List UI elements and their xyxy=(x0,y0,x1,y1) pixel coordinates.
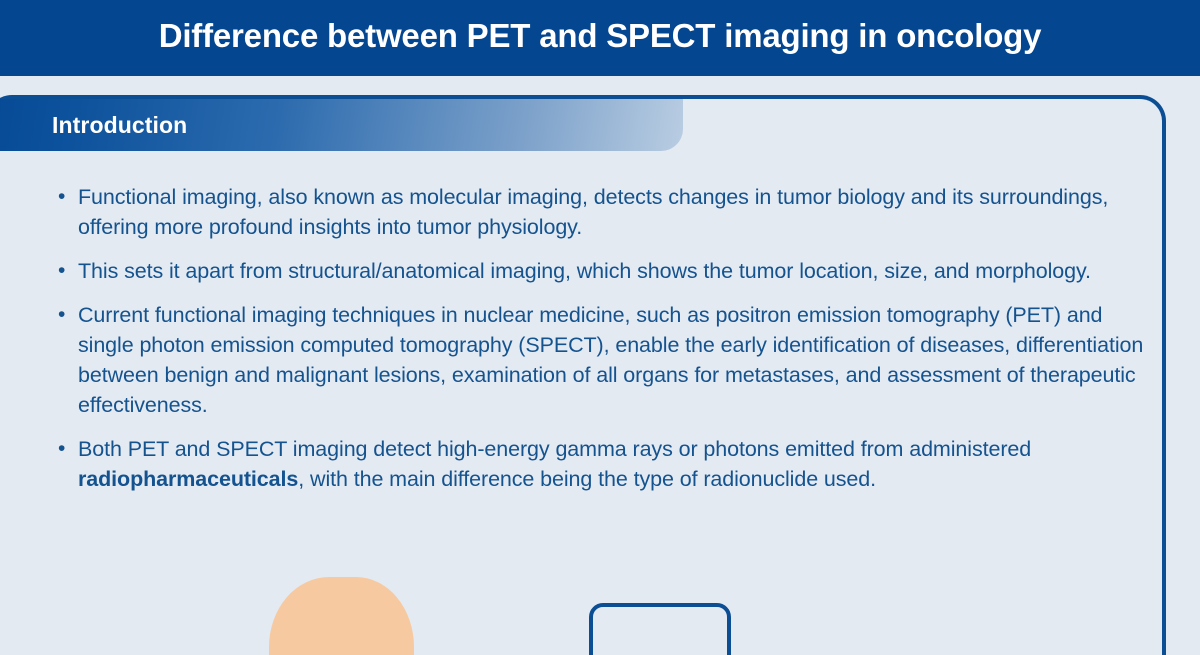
bullet-text-functional-imaging: Functional imaging, also known as molecu… xyxy=(78,182,1146,242)
introduction-bullet-list: • Functional imaging, also known as mole… xyxy=(52,182,1146,508)
page-header-band: Difference between PET and SPECT imaging… xyxy=(0,0,1200,76)
list-item: • Current functional imaging techniques … xyxy=(52,300,1146,420)
bullet-marker-icon: • xyxy=(52,256,78,286)
page-title: Difference between PET and SPECT imaging… xyxy=(159,18,1042,54)
bullet-marker-icon: • xyxy=(52,300,78,330)
bullet-text-gamma-rays: Both PET and SPECT imaging detect high-e… xyxy=(78,434,1146,494)
scanner-device-outline-illustration xyxy=(589,603,731,655)
section-banner-label: Introduction xyxy=(52,114,187,137)
list-item: • Both PET and SPECT imaging detect high… xyxy=(52,434,1146,494)
list-item: • This sets it apart from structural/ana… xyxy=(52,256,1146,286)
bullet-text-structural-imaging: This sets it apart from structural/anato… xyxy=(78,256,1146,286)
bullet-marker-icon: • xyxy=(52,434,78,464)
bullet-text-nuclear-medicine-techniques: Current functional imaging techniques in… xyxy=(78,300,1146,420)
section-banner-introduction: Introduction xyxy=(0,99,683,151)
list-item: • Functional imaging, also known as mole… xyxy=(52,182,1146,242)
header-gap-strip xyxy=(0,76,1200,95)
person-head-illustration xyxy=(269,577,414,655)
bullet-marker-icon: • xyxy=(52,182,78,212)
